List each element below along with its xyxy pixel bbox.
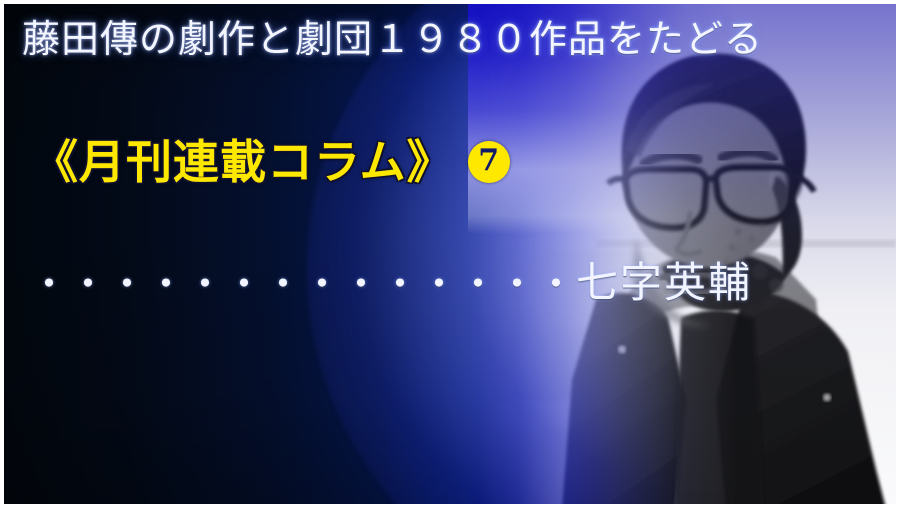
column-title-row: 《月刊連載コラム》 7 [32,139,510,185]
issue-number-text: 7 [478,146,499,176]
byline-row: ・・・・・・・・・・・・・・ 七字英輔 [30,262,752,304]
artwork-area: 藤田傳の劇作と劇団１９８０作品をたどる 《月刊連載コラム》 7 ・・・・・・・・… [4,4,896,504]
column-banner: 藤田傳の劇作と劇団１９８０作品をたどる 《月刊連載コラム》 7 ・・・・・・・・… [0,0,900,509]
byline-author-name: 七字英輔 [576,262,752,304]
issue-number-badge: 7 [468,141,510,183]
text-layer: 藤田傳の劇作と劇団１９８０作品をたどる 《月刊連載コラム》 7 ・・・・・・・・… [4,4,896,504]
column-title-text: 《月刊連載コラム》 [32,139,454,185]
headline-text: 藤田傳の劇作と劇団１９８０作品をたどる [22,18,763,63]
byline-leader-dots: ・・・・・・・・・・・・・・ [30,265,576,303]
